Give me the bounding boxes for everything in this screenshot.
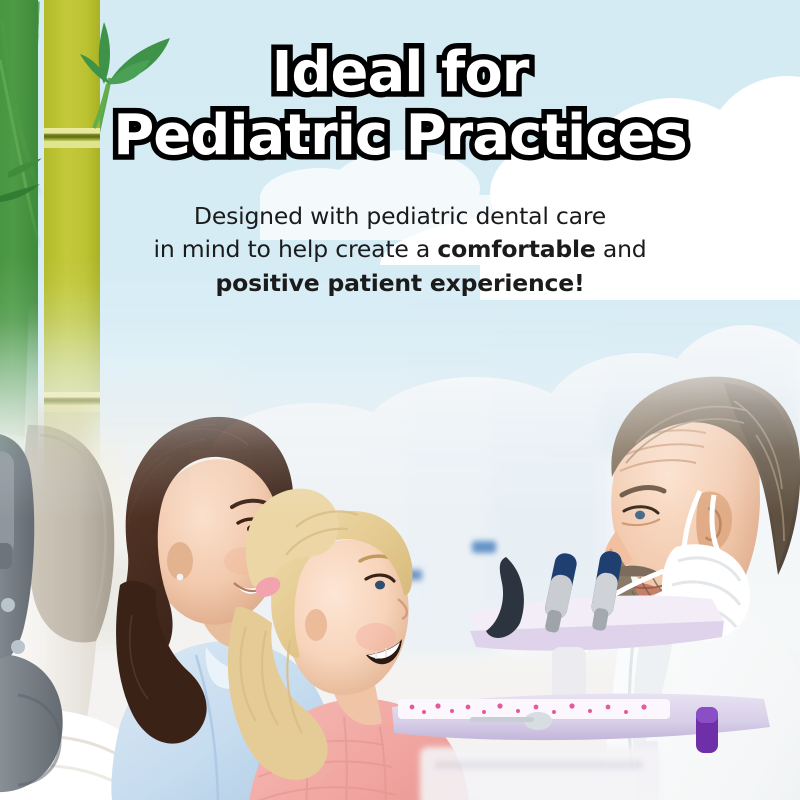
subtitle-line-2-text: in mind to help create a	[154, 235, 438, 263]
photo-svg	[0, 255, 800, 800]
subtitle-emphasis-comfortable: comfortable	[437, 235, 595, 263]
poster-canvas: Ideal for Pediatric Practices Designed w…	[0, 0, 800, 800]
dental-office-photo	[0, 255, 800, 800]
headline-line-1: Ideal for	[0, 46, 800, 101]
subtitle-line-2-tail: and	[596, 235, 647, 263]
subtitle-line-2: in mind to help create a comfortable and	[0, 233, 800, 266]
subtitle-emphasis-positive: positive patient experience!	[216, 269, 585, 297]
subtitle-block: Designed with pediatric dental care in m…	[0, 200, 800, 300]
page-title: Ideal for Pediatric Practices	[0, 46, 800, 164]
headline-line-2: Pediatric Practices	[0, 109, 800, 164]
subtitle-line-1: Designed with pediatric dental care	[0, 200, 800, 233]
subtitle-line-3: positive patient experience!	[0, 267, 800, 300]
